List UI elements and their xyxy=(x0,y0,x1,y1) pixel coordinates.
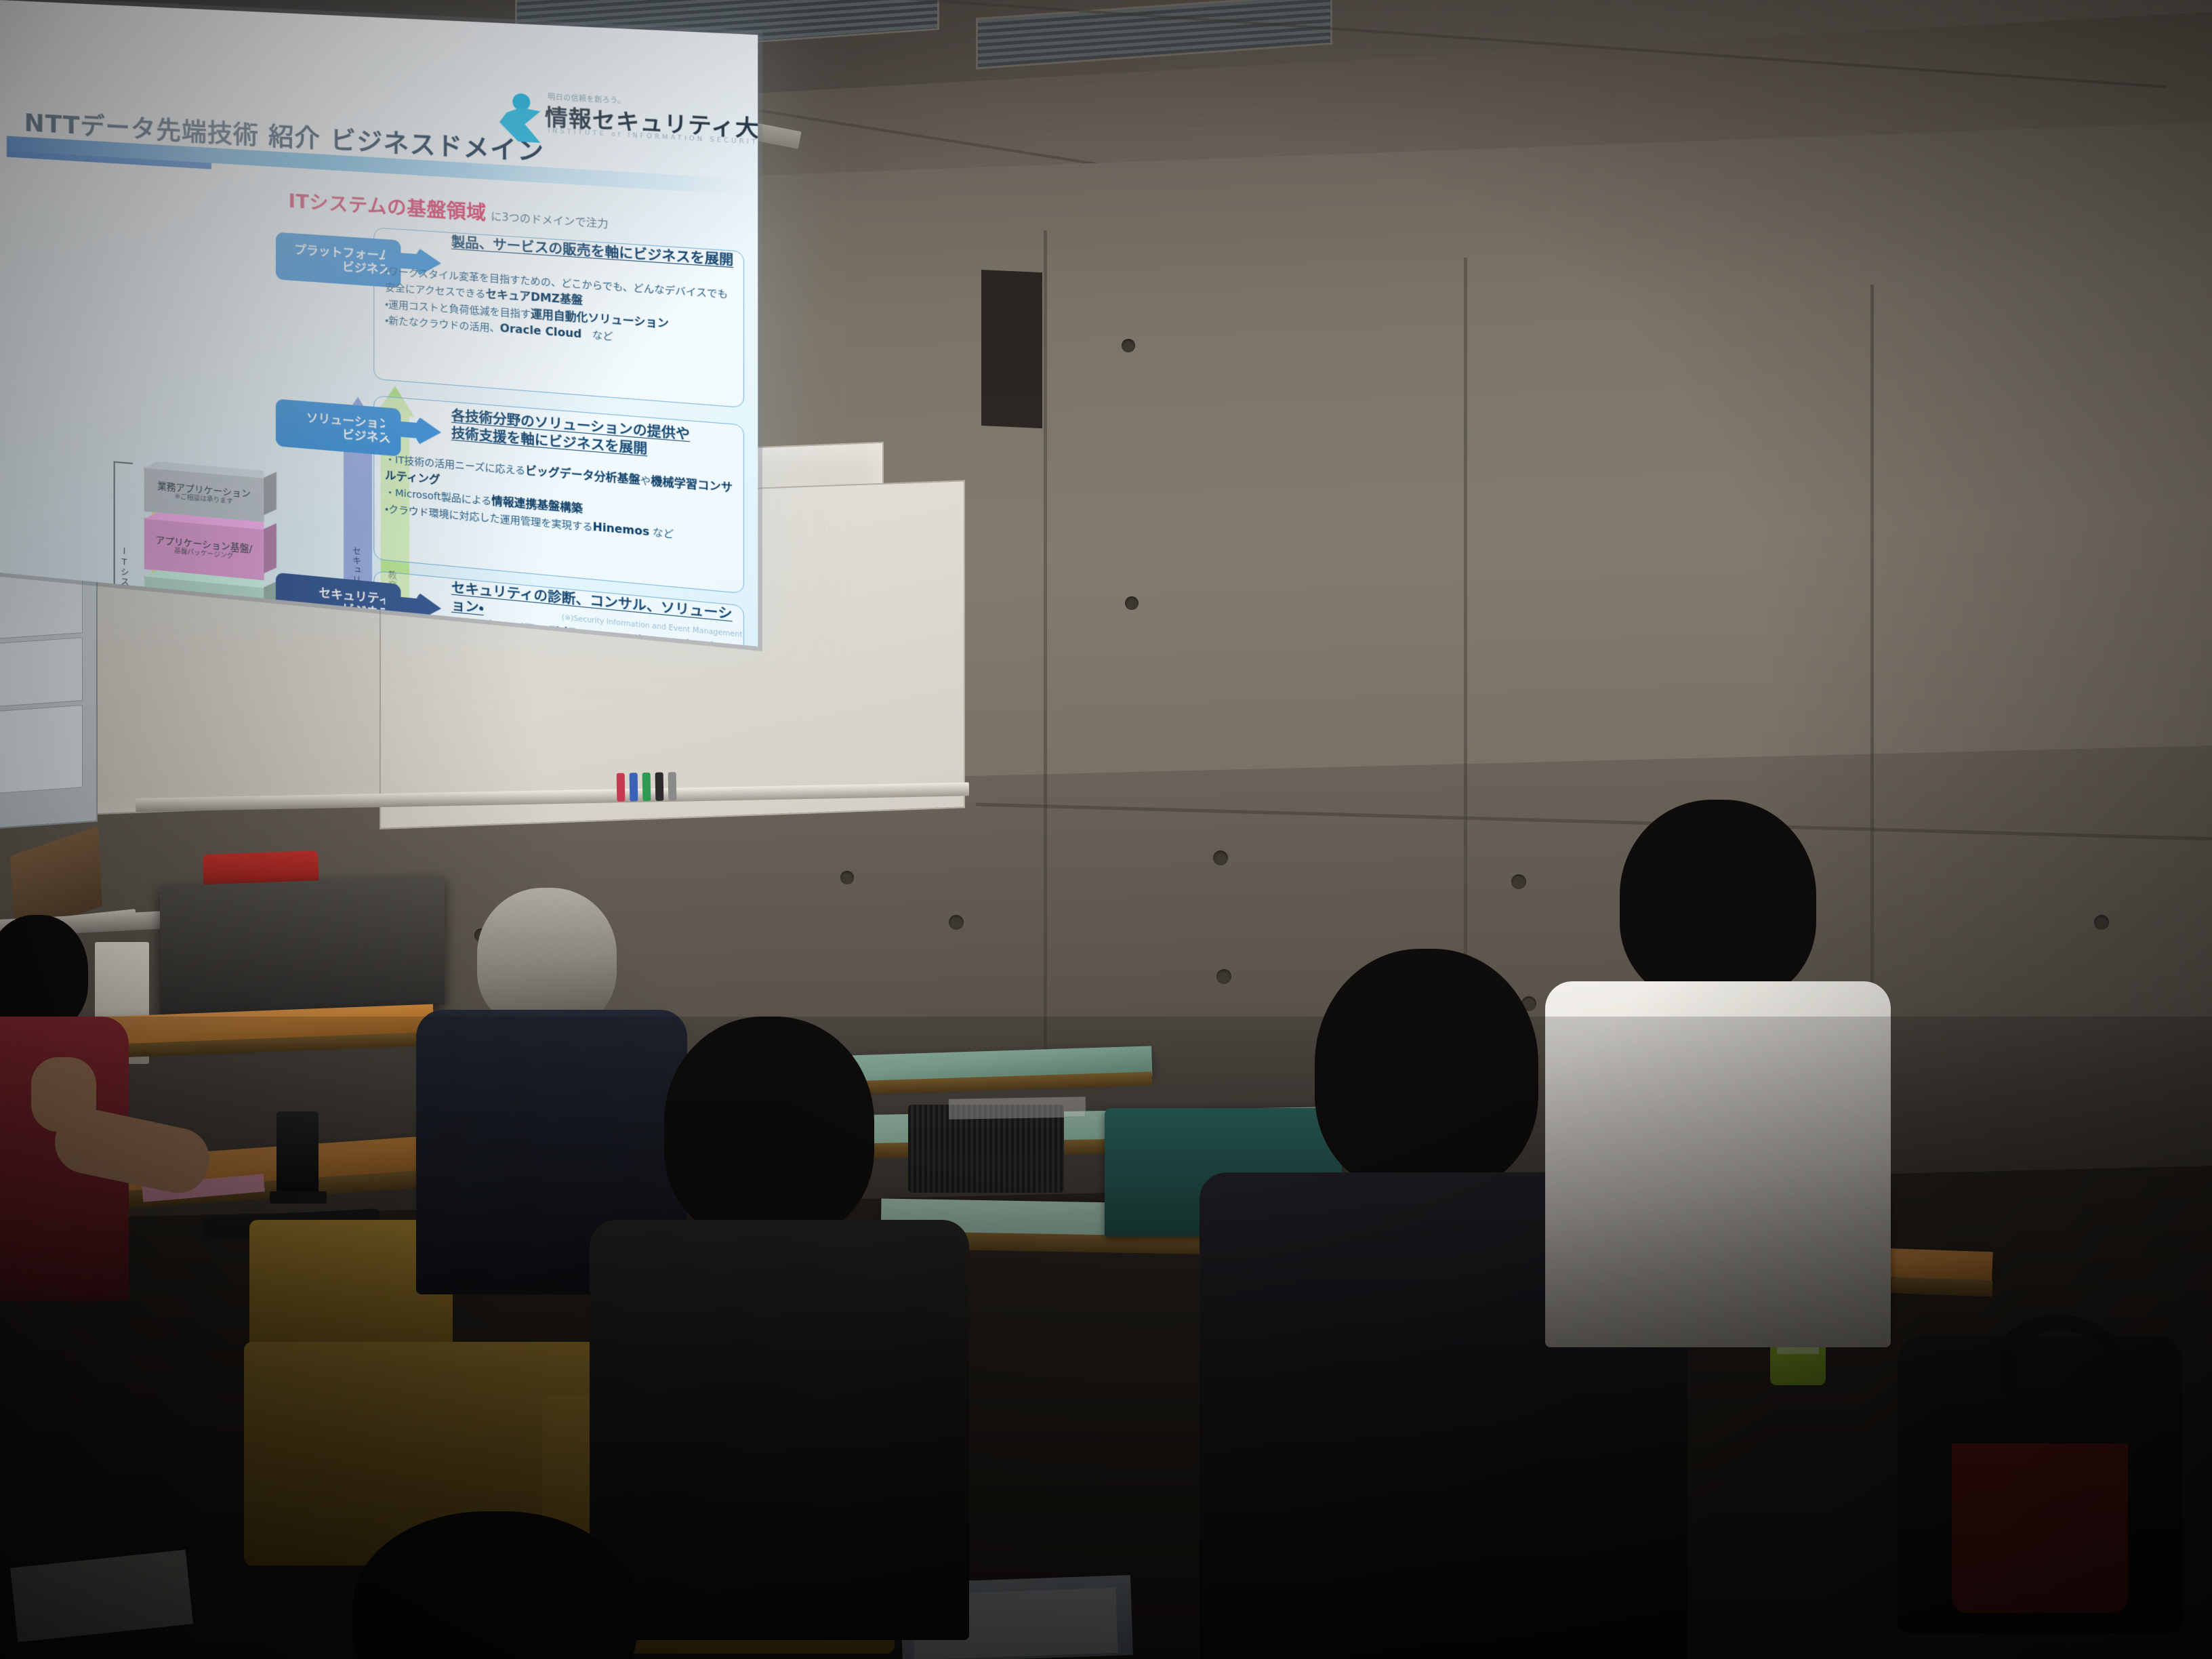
form-tie-hole xyxy=(2094,915,2109,930)
head xyxy=(1620,800,1816,1003)
lecture-room-photo: NTTデータ先端技術 紹介 ビジネスドメイン 明日の信頼を創ろう。 情報セキュリ… xyxy=(0,0,2212,1659)
it-stack-diagram: ITシステム基盤領域 クラウド活用 業務アプリケーション※ご相談は承りますアプリ… xyxy=(114,223,294,647)
hand xyxy=(31,1057,96,1132)
screen-left-shadow xyxy=(981,270,1042,428)
headline-main: ITシステムの基盤領域 xyxy=(289,190,487,224)
podium xyxy=(160,876,445,1015)
papers-on-desk xyxy=(10,1550,193,1643)
slide-headline: ITシステムの基盤領域に3つのドメインで注力 xyxy=(289,186,609,233)
form-tie-hole xyxy=(840,871,854,884)
domain-arrow-icon xyxy=(385,412,441,449)
domain-chip[interactable]: プラットフォームビジネス xyxy=(276,232,401,289)
headline-sub: に3つのドメインで注力 xyxy=(491,210,609,230)
backpack-handle xyxy=(1999,1315,2120,1392)
form-tie-hole xyxy=(1213,851,1228,865)
presentation-slide: NTTデータ先端技術 紹介 ビジネスドメイン 明日の信頼を創ろう。 情報セキュリ… xyxy=(0,0,758,647)
logo-figure-icon xyxy=(499,92,542,143)
form-tie-hole xyxy=(949,915,964,930)
wall-seam-vertical-1 xyxy=(1044,230,1047,1084)
logo-body-swoosh xyxy=(499,106,541,143)
backpack-red-panel xyxy=(1952,1443,2128,1613)
form-tie-hole xyxy=(1122,339,1135,352)
whiteboard-markers xyxy=(617,772,677,802)
form-tie-hole xyxy=(1511,874,1526,889)
head xyxy=(1315,949,1538,1193)
thermos-bottle xyxy=(276,1111,319,1197)
domain-chip[interactable]: ソリューションビジネス xyxy=(276,398,401,456)
audience-member-red-shirt xyxy=(0,915,176,1389)
projection-screen: NTTデータ先端技術 紹介 ビジネスドメイン 明日の信頼を創ろう。 情報セキュリ… xyxy=(0,0,758,647)
audience-member-foreground xyxy=(352,1511,664,1659)
thermos-base xyxy=(270,1191,327,1204)
torso xyxy=(1545,981,1891,1347)
audience-member-white-polo xyxy=(1538,800,1904,1342)
stack-layer-list: 業務アプリケーション※ご相談は承りますアプリケーション基盤/基盤パッケージングミ… xyxy=(114,223,294,234)
form-tie-hole xyxy=(1125,596,1139,610)
head xyxy=(664,1017,874,1240)
head xyxy=(0,915,88,1031)
head xyxy=(352,1511,637,1659)
head xyxy=(477,888,617,1029)
